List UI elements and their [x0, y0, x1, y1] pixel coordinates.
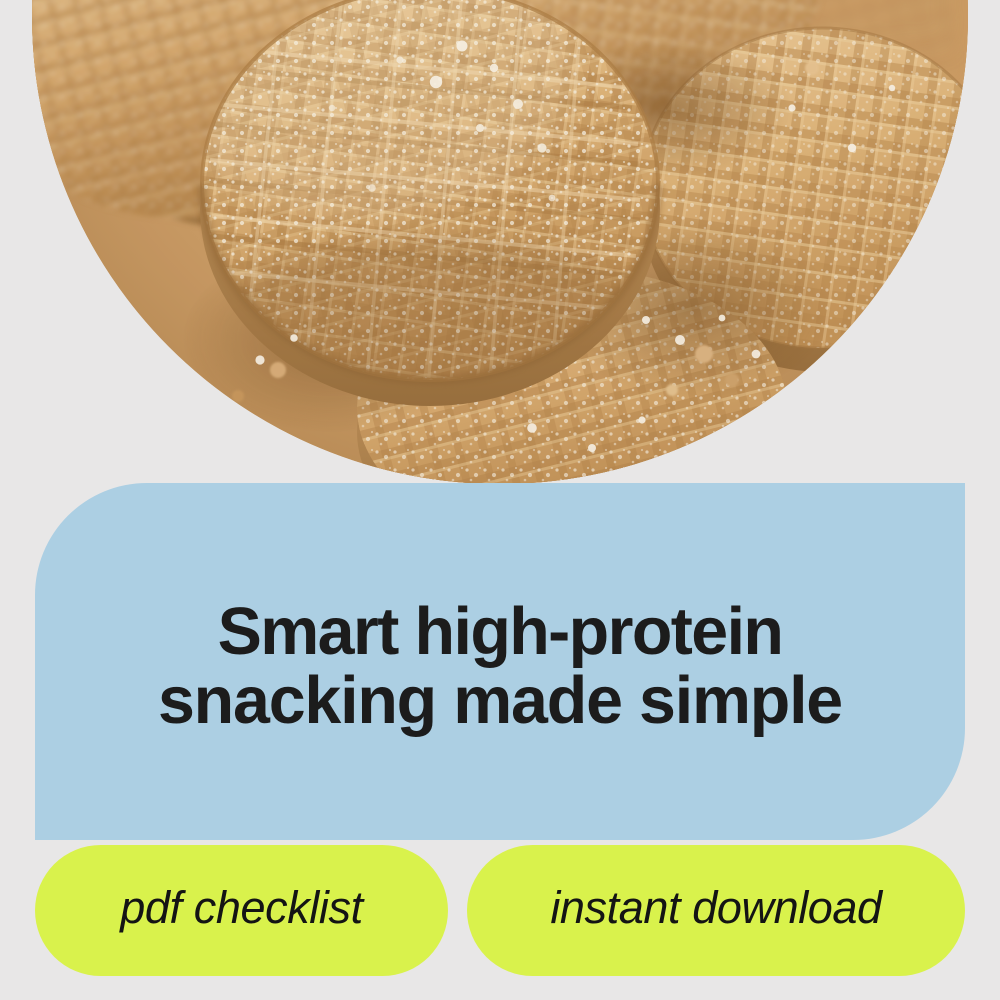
headline: Smart high-protein snacking made simple	[40, 598, 961, 735]
tag-pill-instant-download[interactable]: instant download	[467, 845, 965, 976]
headline-card: Smart high-protein snacking made simple	[35, 483, 965, 840]
tag-pill-pdf-checklist[interactable]: pdf checklist	[35, 845, 448, 976]
poster-canvas: Smart high-protein snacking made simple …	[0, 0, 1000, 1000]
tag-label: pdf checklist	[120, 882, 362, 934]
tag-label: instant download	[550, 882, 881, 934]
cookie-photo-circle	[32, 0, 968, 484]
cookie-photo-illustration	[32, 0, 968, 484]
headline-line-2: snacking made simple	[79, 667, 921, 735]
headline-line-1: Smart high-protein	[79, 598, 921, 666]
